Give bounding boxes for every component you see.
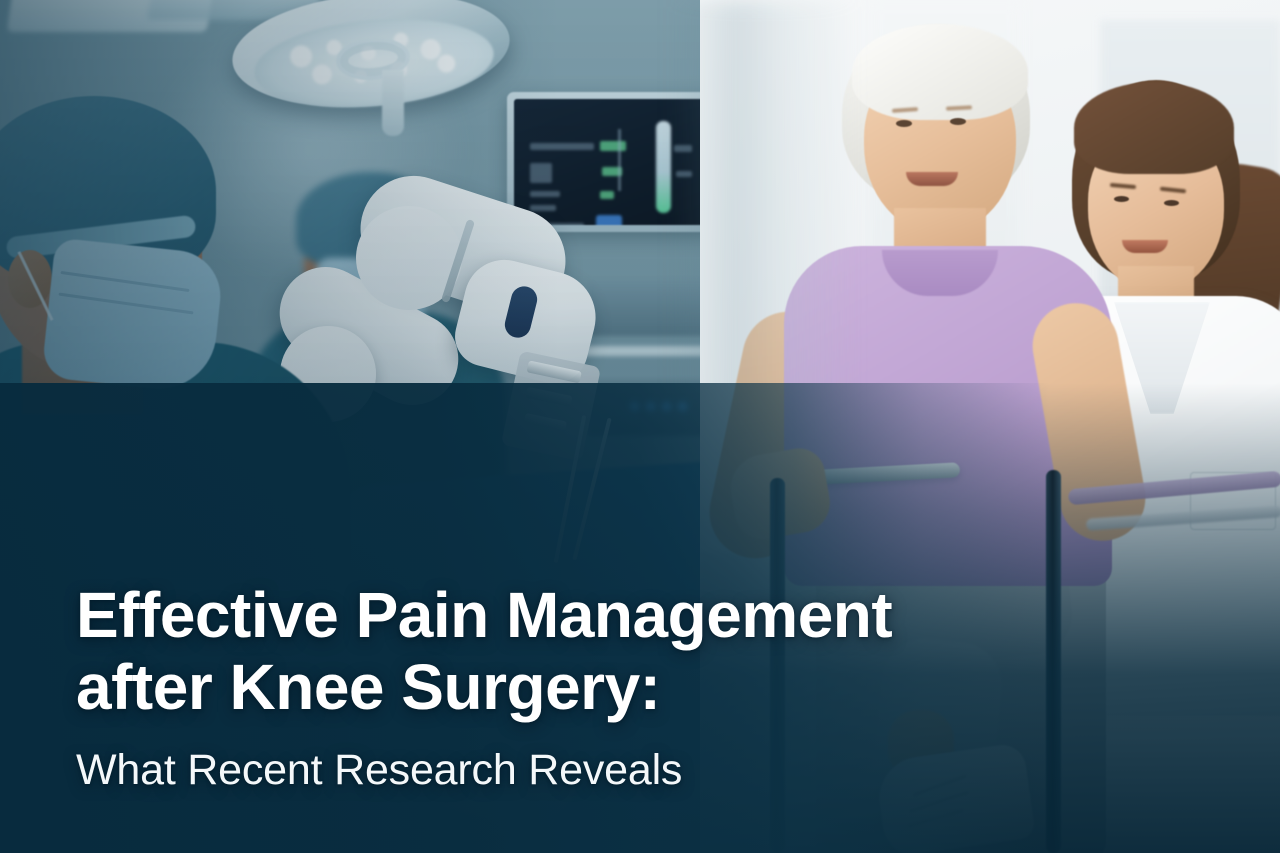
patient-hair-front xyxy=(852,24,1028,120)
patient-eye xyxy=(896,120,912,127)
banner-text-block: Effective Pain Management after Knee Sur… xyxy=(76,580,1036,795)
therapist-eye xyxy=(1164,200,1179,206)
page-title: Effective Pain Management after Knee Sur… xyxy=(76,580,1036,723)
shoelace xyxy=(907,809,964,828)
parallel-bar-post xyxy=(1046,470,1061,853)
headline-line-2: after Knee Surgery: xyxy=(76,652,1036,724)
therapist-smile xyxy=(1122,240,1168,253)
page-subtitle: What Recent Research Reveals xyxy=(76,746,1036,795)
headline-line-1: Effective Pain Management xyxy=(76,579,892,651)
article-hero-banner: Effective Pain Management after Knee Sur… xyxy=(0,0,1280,853)
patient-smile xyxy=(906,172,958,186)
patient-eye xyxy=(950,118,966,125)
